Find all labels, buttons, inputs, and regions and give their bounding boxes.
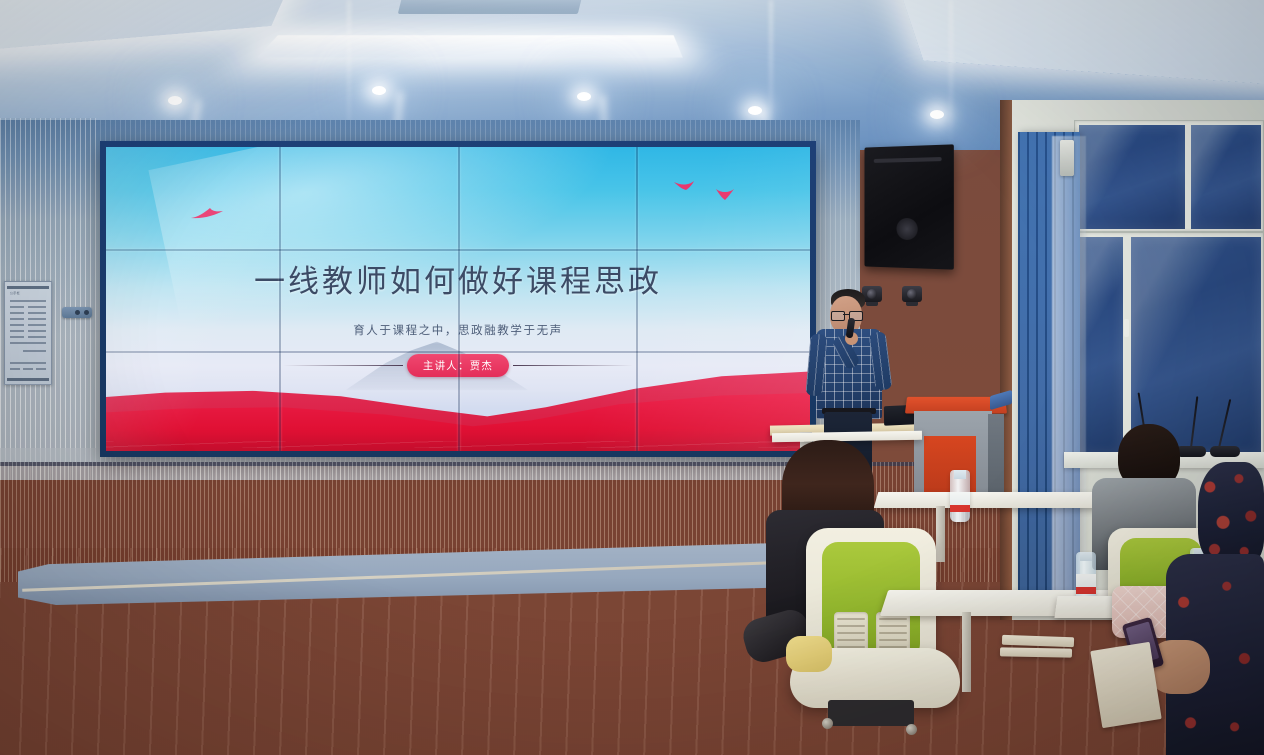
video-wall[interactable]: 一线教师如何做好课程思政 育人于课程之中，思政融教学于无声 主讲人：贾杰 [100,141,816,457]
wall-mounted-bracket [62,307,92,318]
bird-icon [190,205,224,221]
ceiling-light-panel-left [0,0,302,54]
badge-rule-right [513,365,633,366]
sheer-curtain[interactable] [1052,136,1086,602]
window-pane [1191,125,1261,229]
ceiling-light-panel-right [893,0,1264,91]
ptz-camera-icon [862,286,882,302]
presentation-slide: 一线教师如何做好课程思政 育人于课程之中，思政融教学于无声 主讲人：贾杰 [106,147,810,451]
table [874,492,1129,508]
panel-seam-horizontal [106,351,810,353]
window-handle[interactable] [1124,319,1129,337]
downlight-icon [168,96,182,105]
glasses-icon [831,311,861,319]
downlight-icon [577,92,591,101]
paper-stack [1000,647,1072,657]
table-leg [962,612,971,692]
panel-seam-horizontal [106,249,810,251]
lecture-hall-photo: 公示栏 [0,0,1264,755]
downlight-icon [372,86,386,95]
wall-intercom[interactable] [1060,140,1074,176]
window-pane [1131,237,1261,455]
chair-caster [906,724,917,735]
table-leg [936,506,945,562]
microphone-base [1210,446,1240,457]
badge-rule-left [283,365,403,366]
notice-board-title: 公示栏 [10,291,20,295]
water-bottle[interactable] [950,470,970,522]
panel-seam-vertical [458,147,460,451]
window-frame-upper [1074,120,1264,232]
window-pane [1079,125,1185,229]
ptz-camera-icon [902,286,922,302]
panel-seam-vertical [279,147,281,451]
bird-icon [715,188,735,201]
chair-caster [822,718,833,729]
chair-base [828,700,914,726]
ceiling-vent [398,0,582,14]
notice-board: 公示栏 [4,281,52,385]
table [772,431,922,443]
attendee-right-woman-head [1198,462,1264,566]
slide-sky-glow [149,147,669,348]
ceiling-beam-far-right [950,0,952,150]
loudspeaker [865,144,954,269]
downlight-icon [930,110,944,119]
notebook[interactable] [1090,642,1161,728]
video-wall-screen[interactable]: 一线教师如何做好课程思政 育人于课程之中，思政融教学于无声 主讲人：贾杰 [106,147,810,451]
chair-armrest [786,636,832,672]
panel-seam-vertical [636,147,638,451]
ceiling-linear-light [257,35,682,57]
window-frame-main[interactable] [1074,232,1264,458]
bird-icon [673,180,695,192]
